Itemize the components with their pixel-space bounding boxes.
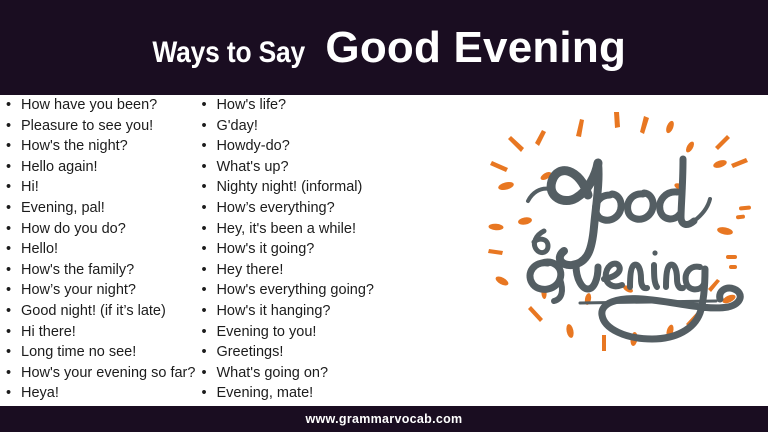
bullet-icon: • — [201, 157, 206, 178]
list-item-label: How’s your night? — [21, 282, 136, 298]
list-item-label: How's life? — [216, 97, 286, 113]
list-item: •Hello again! — [0, 157, 195, 178]
list-item: •Heya! — [0, 383, 195, 404]
bullet-icon: • — [6, 239, 11, 260]
bullet-icon: • — [6, 363, 11, 384]
bullet-icon: • — [6, 280, 11, 301]
list-item: •How have you been? — [0, 95, 195, 116]
bullet-icon: • — [6, 177, 11, 198]
bullet-icon: • — [201, 363, 206, 384]
list-item: •Long time no see! — [0, 342, 195, 363]
list-item-label: How's it going? — [216, 241, 314, 257]
list-item: •What's up? — [195, 157, 374, 178]
bullet-icon: • — [201, 177, 206, 198]
bullet-icon: • — [6, 322, 11, 343]
left-column-list: •How have you been? •Pleasure to see you… — [0, 95, 195, 404]
list-item: •Hey there! — [195, 260, 374, 281]
list-item-label: How's it hanging? — [216, 303, 330, 319]
bullet-icon: • — [201, 198, 206, 219]
bullet-icon: • — [201, 260, 206, 281]
bullet-icon: • — [201, 136, 206, 157]
list-item: •How's it going? — [195, 239, 374, 260]
list-item: •How's it hanging? — [195, 301, 374, 322]
list-item-label: Hello again! — [21, 159, 98, 175]
list-item: •How's the family? — [0, 260, 195, 281]
list-item-label: Evening to you! — [216, 324, 316, 340]
bullet-icon: • — [6, 301, 11, 322]
list-item: •Evening, pal! — [0, 198, 195, 219]
header-bar: Ways to Say Good Evening — [0, 0, 768, 95]
list-item-label: How’s everything? — [216, 200, 334, 216]
list-item-label: How's the family? — [21, 262, 134, 278]
list-item: •Nighty night! (informal) — [195, 177, 374, 198]
list-item: •Hey, it's been a while! — [195, 219, 374, 240]
script-word-evening — [530, 231, 740, 339]
good-evening-lettering-artwork — [484, 103, 766, 358]
footer-bar: www.grammarvocab.com — [0, 406, 768, 432]
list-item: •Evening to you! — [195, 322, 374, 343]
bullet-icon: • — [201, 239, 206, 260]
bullet-icon: • — [201, 95, 206, 116]
list-item-label: How's the night? — [21, 138, 128, 154]
bullet-icon: • — [201, 301, 206, 322]
list-item: •Hello! — [0, 239, 195, 260]
list-item-label: Pleasure to see you! — [21, 118, 153, 134]
content-area: •How have you been? •Pleasure to see you… — [0, 95, 768, 406]
list-item-label: How's your evening so far? — [21, 365, 195, 381]
list-item: •Hi there! — [0, 322, 195, 343]
page-title: Ways to Say Good Evening — [142, 23, 626, 73]
bullet-icon: • — [6, 342, 11, 363]
list-item-label: G'day! — [216, 118, 257, 134]
title-main: Good Evening — [325, 23, 626, 73]
list-item-label: What's going on? — [216, 365, 328, 381]
list-item-label: Heya! — [21, 385, 59, 401]
list-item: •How’s your night? — [0, 280, 195, 301]
list-item: •How's everything going? — [195, 280, 374, 301]
bullet-icon: • — [201, 219, 206, 240]
list-item-label: Evening, pal! — [21, 200, 105, 216]
list-item: •Pleasure to see you! — [0, 116, 195, 137]
bullet-icon: • — [6, 95, 11, 116]
list-item-label: Hello! — [21, 241, 58, 257]
list-item: •Hi! — [0, 177, 195, 198]
bullet-icon: • — [6, 136, 11, 157]
list-item: •Howdy-do? — [195, 136, 374, 157]
list-item: •What's going on? — [195, 363, 374, 384]
list-item: •Greetings! — [195, 342, 374, 363]
bullet-icon: • — [201, 322, 206, 343]
list-item-label: Hey there! — [216, 262, 283, 278]
bullet-icon: • — [201, 383, 206, 404]
list-item: •How's your evening so far? — [0, 363, 195, 384]
list-item-label: What's up? — [216, 159, 288, 175]
list-item: •Evening, mate! — [195, 383, 374, 404]
list-item: •Good night! (if it’s late) — [0, 301, 195, 322]
list-item-label: Long time no see! — [21, 344, 136, 360]
list-item-label: How's everything going? — [216, 282, 374, 298]
bullet-icon: • — [201, 116, 206, 137]
list-item-label: How do you do? — [21, 221, 126, 237]
list-item: •G'day! — [195, 116, 374, 137]
phrase-columns: •How have you been? •Pleasure to see you… — [0, 95, 374, 404]
bullet-icon: • — [6, 116, 11, 137]
list-item: •How's the night? — [0, 136, 195, 157]
list-item-label: Hey, it's been a while! — [216, 221, 356, 237]
website-url[interactable]: www.grammarvocab.com — [306, 412, 463, 426]
list-item-label: Howdy-do? — [216, 138, 289, 154]
list-item: •How do you do? — [0, 219, 195, 240]
bullet-icon: • — [6, 219, 11, 240]
bullet-icon: • — [201, 280, 206, 301]
list-item-label: How have you been? — [21, 97, 157, 113]
bullet-icon: • — [6, 383, 11, 404]
list-item-label: Nighty night! (informal) — [216, 179, 362, 195]
list-item-label: Hi there! — [21, 324, 76, 340]
list-item: •How’s everything? — [195, 198, 374, 219]
list-item: •How's life? — [195, 95, 374, 116]
bullet-icon: • — [6, 198, 11, 219]
bullet-icon: • — [201, 342, 206, 363]
right-column-list: •How's life? •G'day! •Howdy-do? •What's … — [195, 95, 374, 404]
bullet-icon: • — [6, 157, 11, 178]
list-item-label: Greetings! — [216, 344, 283, 360]
list-item-label: Hi! — [21, 179, 39, 195]
title-prefix: Ways to Say — [152, 36, 305, 70]
orange-burst-decoration — [488, 112, 751, 351]
list-item-label: Evening, mate! — [216, 385, 313, 401]
script-word-good — [528, 159, 710, 265]
list-item-label: Good night! (if it’s late) — [21, 303, 166, 319]
bullet-icon: • — [6, 260, 11, 281]
